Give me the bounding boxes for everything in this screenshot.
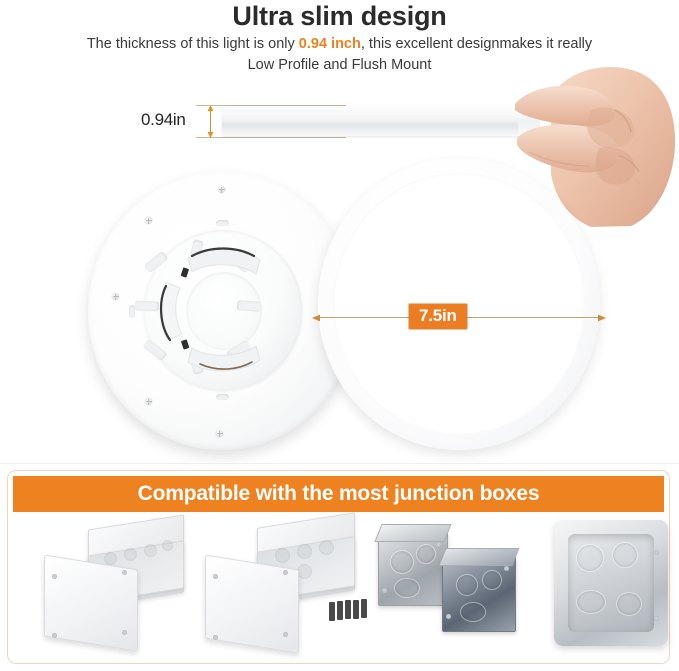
- compatibility-banner: Compatible with the most junction boxes: [13, 476, 664, 512]
- diameter-dimension: 7.5in: [312, 308, 606, 328]
- lid-screw: [283, 570, 288, 575]
- box-screw: [504, 566, 509, 571]
- subtitle-text-before: The thickness of this light is only: [87, 36, 299, 52]
- lid-screw: [52, 574, 57, 579]
- thickness-double-arrow-icon: [206, 105, 215, 138]
- mount-tab: [129, 305, 135, 318]
- mounting-screw: [218, 186, 225, 193]
- metal-box-top-edge: [438, 548, 519, 566]
- section-divider: [0, 463, 679, 464]
- junction-box-gallery: [14, 516, 664, 661]
- compatibility-banner-title: Compatible with the most junction boxes: [138, 482, 540, 506]
- knockout: [104, 552, 117, 565]
- knockout: [144, 544, 157, 557]
- metal-box-top-edge: [374, 524, 451, 542]
- arrow-left-icon: [312, 313, 322, 323]
- knockout: [456, 574, 478, 596]
- junction-box-item: [44, 518, 194, 658]
- knockout: [124, 548, 137, 561]
- knockout: [576, 544, 604, 572]
- box-screw: [382, 588, 387, 593]
- knockout: [416, 544, 436, 564]
- knockout: [297, 544, 312, 559]
- mounting-screw: [145, 217, 152, 224]
- knockout: [460, 602, 486, 622]
- lid-screw: [52, 633, 57, 638]
- knockout: [616, 592, 642, 616]
- lid-screw: [213, 574, 218, 579]
- mount-tab: [216, 394, 229, 400]
- knockout: [319, 540, 334, 555]
- knockout: [482, 570, 502, 590]
- mounting-screw: [145, 398, 152, 405]
- subtitle-highlight-thickness: 0.94 inch: [299, 36, 361, 52]
- box-screw: [654, 616, 659, 621]
- cable-channel-group: [144, 230, 302, 390]
- mount-tab: [216, 220, 229, 226]
- knockout: [576, 590, 606, 614]
- product-feature-image: Ultra slim design The thickness of this …: [0, 0, 679, 671]
- knockout: [162, 540, 173, 551]
- mounting-screw: [112, 293, 119, 300]
- knockout: [297, 564, 312, 579]
- thickness-extension-line-bottom: [196, 137, 346, 138]
- lid-screw: [213, 635, 218, 640]
- mounting-screw: [216, 430, 223, 437]
- box-screw: [446, 614, 451, 619]
- box-screw: [436, 542, 441, 547]
- junction-box-item: [199, 516, 379, 658]
- subtitle-text-after: , this excellent designmakes it really: [361, 36, 592, 52]
- knockout: [275, 548, 290, 563]
- lid-screw: [283, 632, 288, 637]
- diameter-badge: 7.5in: [409, 304, 467, 329]
- lid-screw: [122, 630, 127, 635]
- knockout: [394, 578, 420, 598]
- light-panel-edge-view: [222, 106, 529, 136]
- terminal-block: [329, 600, 373, 622]
- arrow-right-icon: [596, 313, 606, 323]
- box-screw: [654, 550, 659, 555]
- junction-box-item: [554, 520, 674, 652]
- page-title: Ultra slim design: [0, 1, 679, 32]
- thickness-label: 0.94in: [141, 110, 186, 130]
- junction-box-item: [374, 522, 544, 652]
- knockout: [612, 542, 638, 568]
- lid-screw: [122, 570, 127, 575]
- knockout: [390, 550, 414, 574]
